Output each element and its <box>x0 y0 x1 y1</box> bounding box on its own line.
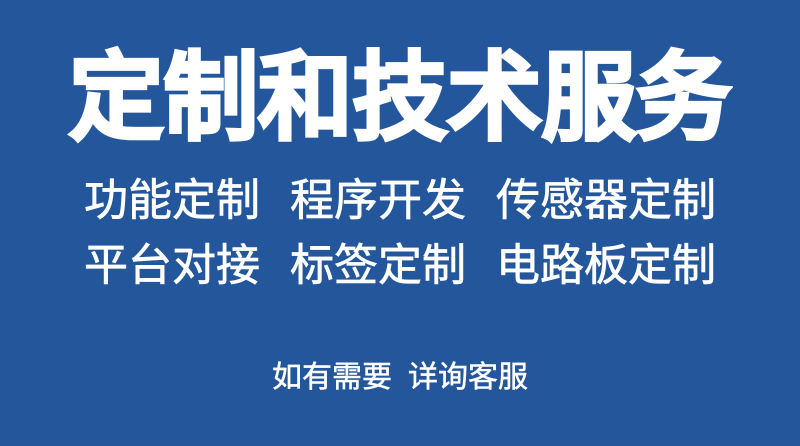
page-title: 定制和技术服务 <box>69 51 731 147</box>
service-separator <box>466 201 496 202</box>
promo-banner: 定制和技术服务 功能定制 程序开发 传感器定制 平台对接 标签定制 电路板定制 … <box>0 0 800 446</box>
footer-separator <box>392 378 408 379</box>
service-item-program-development: 程序开发 <box>290 179 466 223</box>
service-separator <box>260 201 290 202</box>
service-item-functional-customization: 功能定制 <box>84 179 260 223</box>
service-item-platform-integration: 平台对接 <box>84 244 260 288</box>
service-separator <box>260 266 290 267</box>
footer-note-part-1: 如有需要 <box>272 363 392 393</box>
service-item-pcb-customization: 电路板定制 <box>496 244 716 288</box>
service-item-sensor-customization: 传感器定制 <box>496 179 716 223</box>
service-item-label-customization: 标签定制 <box>290 244 466 288</box>
headline-container: 定制和技术服务 <box>0 44 800 154</box>
service-row-2: 平台对接 标签定制 电路板定制 <box>0 241 800 291</box>
service-separator <box>466 266 496 267</box>
footer-note: 如有需要 详询客服 <box>0 356 800 400</box>
service-row-1: 功能定制 程序开发 传感器定制 <box>0 176 800 226</box>
footer-note-part-2: 详询客服 <box>408 363 528 393</box>
